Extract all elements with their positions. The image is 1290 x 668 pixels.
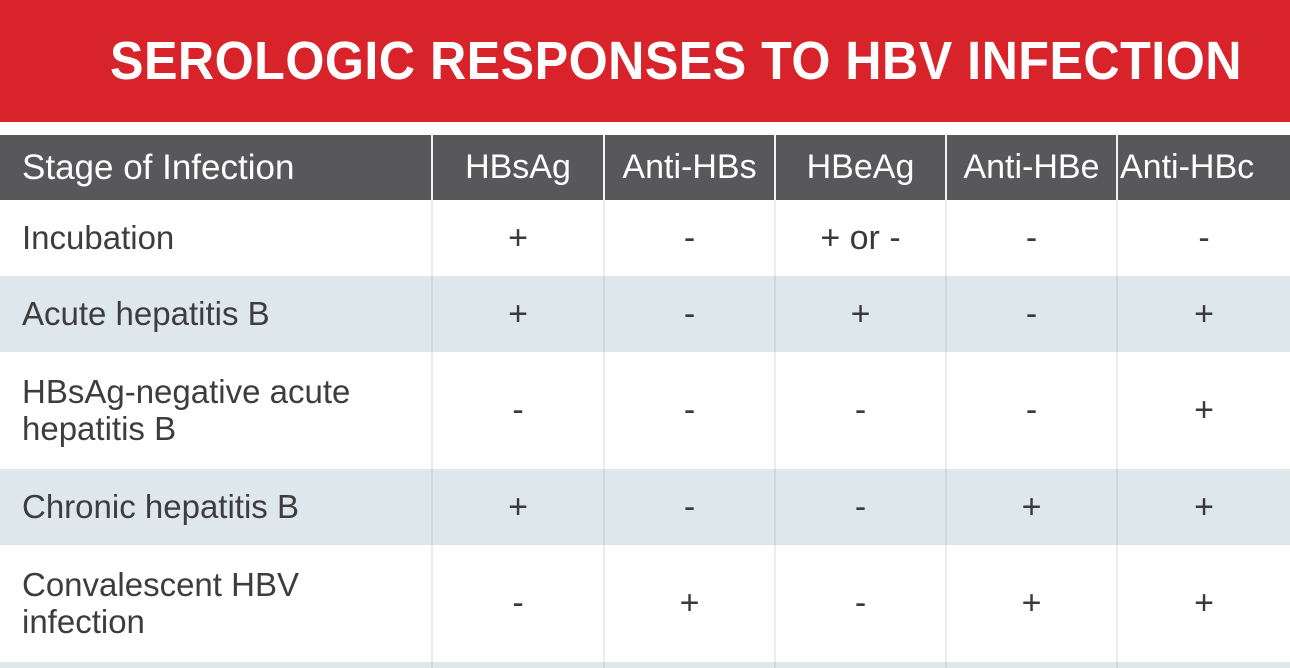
cell-anti-hbe: -	[946, 352, 1117, 469]
cell-anti-hbe: -	[946, 662, 1117, 668]
table-row: HBsAg-negative acute hepatitis B - - - -…	[0, 352, 1290, 469]
cell-hbeag: -	[775, 469, 946, 545]
cell-hbeag: + or -	[775, 200, 946, 276]
cell-hbsag: +	[432, 469, 604, 545]
cell-anti-hbs: +	[604, 662, 775, 668]
table-row: Convalescent HBV infection - + - + +	[0, 545, 1290, 662]
cell-anti-hbs: -	[604, 352, 775, 469]
column-header-anti-hbc: Anti-HBc	[1117, 135, 1290, 200]
column-header-anti-hbs: Anti-HBs	[604, 135, 775, 200]
cell-hbsag: +	[432, 276, 604, 352]
cell-anti-hbc: +	[1117, 469, 1290, 545]
cell-anti-hbe: +	[946, 545, 1117, 662]
cell-anti-hbs: -	[604, 469, 775, 545]
cell-hbsag: -	[432, 352, 604, 469]
infographic-root: SEROLOGIC RESPONSES TO HBV INFECTION Sta…	[0, 0, 1290, 668]
cell-hbsag: -	[432, 662, 604, 668]
column-header-hbsag: HBsAg	[432, 135, 604, 200]
cell-hbeag: -	[775, 545, 946, 662]
cell-anti-hbs: -	[604, 200, 775, 276]
cell-stage: Incubation	[0, 200, 432, 276]
serology-table: Stage of Infection HBsAg Anti-HBs HBeAg …	[0, 135, 1290, 668]
cell-anti-hbc: +	[1117, 352, 1290, 469]
column-header-stage: Stage of Infection	[0, 135, 432, 200]
cell-anti-hbs: -	[604, 276, 775, 352]
cell-anti-hbc: +	[1117, 276, 1290, 352]
table-header: Stage of Infection HBsAg Anti-HBs HBeAg …	[0, 135, 1290, 200]
cell-anti-hbc: +	[1117, 545, 1290, 662]
cell-anti-hbs: +	[604, 545, 775, 662]
table-row: Acute hepatitis B + - + - +	[0, 276, 1290, 352]
header-row: Stage of Infection HBsAg Anti-HBs HBeAg …	[0, 135, 1290, 200]
cell-hbsag: -	[432, 545, 604, 662]
table-row: HBV vaccination - + - - -	[0, 662, 1290, 668]
cell-hbeag: -	[775, 662, 946, 668]
cell-stage: Chronic hepatitis B	[0, 469, 432, 545]
cell-stage: HBV vaccination	[0, 662, 432, 668]
cell-anti-hbe: +	[946, 469, 1117, 545]
cell-stage: Convalescent HBV infection	[0, 545, 432, 662]
banner-spacer	[0, 122, 1290, 135]
title-banner: SEROLOGIC RESPONSES TO HBV INFECTION	[0, 0, 1290, 122]
table-row: Incubation + - + or - - -	[0, 200, 1290, 276]
cell-anti-hbe: -	[946, 200, 1117, 276]
cell-anti-hbe: -	[946, 276, 1117, 352]
table-row: Chronic hepatitis B + - - + +	[0, 469, 1290, 545]
cell-hbsag: +	[432, 200, 604, 276]
column-header-hbeag: HBeAg	[775, 135, 946, 200]
cell-hbeag: -	[775, 352, 946, 469]
cell-stage: Acute hepatitis B	[0, 276, 432, 352]
cell-stage: HBsAg-negative acute hepatitis B	[0, 352, 432, 469]
table-body: Incubation + - + or - - - Acute hepatiti…	[0, 200, 1290, 668]
column-header-anti-hbe: Anti-HBe	[946, 135, 1117, 200]
cell-anti-hbc: -	[1117, 200, 1290, 276]
cell-anti-hbc: -	[1117, 662, 1290, 668]
cell-hbeag: +	[775, 276, 946, 352]
page-title: SEROLOGIC RESPONSES TO HBV INFECTION	[110, 34, 1242, 88]
